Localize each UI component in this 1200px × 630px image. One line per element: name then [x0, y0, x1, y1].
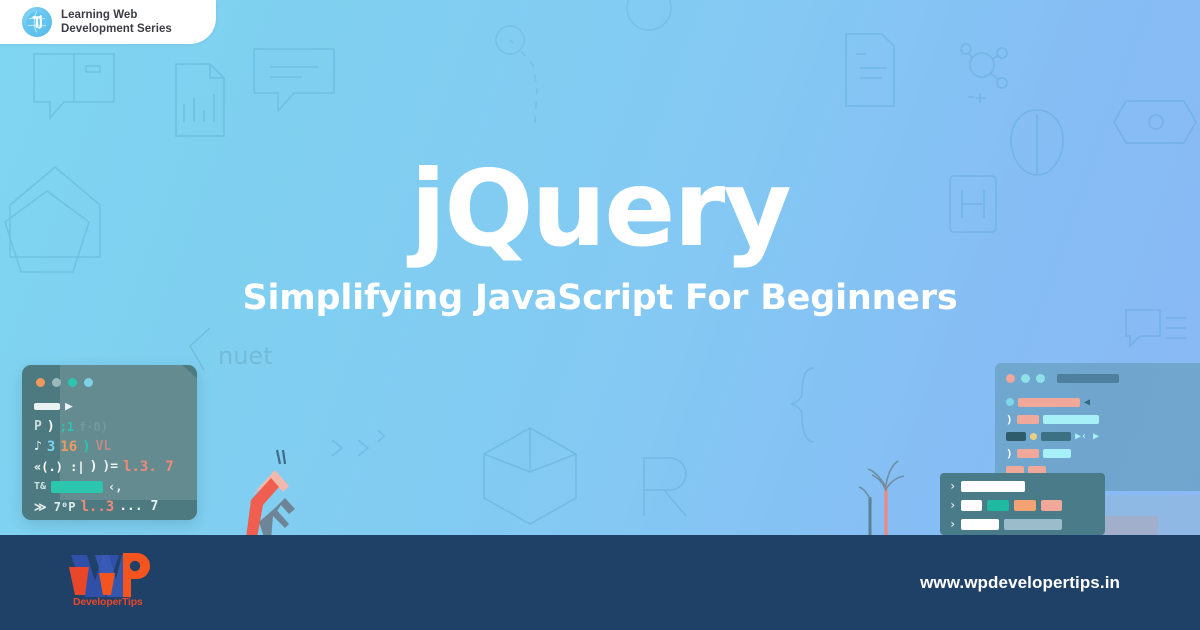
- prompt-chevron-icon: ›: [949, 480, 956, 492]
- window-title-bar: [1057, 374, 1119, 383]
- wp-developer-tips-logo[interactable]: DeveloperTips: [65, 551, 157, 609]
- code-token-bar: [961, 481, 1025, 492]
- arrow-markers-icon: [310, 400, 400, 490]
- code-glyph: f·0): [79, 420, 108, 434]
- window-traffic-lights: [36, 378, 93, 387]
- code-line: ): [1006, 414, 1190, 424]
- code-glyph: ): [1006, 447, 1013, 460]
- code-token-bar: [51, 481, 103, 493]
- code-glyph: ♪: [34, 439, 42, 454]
- learning-series-badge[interactable]: Learning Web Development Series: [0, 0, 216, 44]
- page-title: jQuery: [0, 155, 1200, 264]
- code-glyph: P: [34, 419, 42, 434]
- window-dot: [1006, 374, 1015, 383]
- code-token-bar: [1006, 432, 1026, 441]
- code-lines-left: ▶P);1f·0)♪316)VL«(.) :|))=l.3. 7T&‹,≫ 7⁰…: [34, 400, 187, 520]
- poster-canvas: nuet Le: [0, 0, 1200, 630]
- cube-3d-icon: [470, 420, 590, 530]
- code-window-right-lower: ›››: [940, 473, 1105, 535]
- code-line: ›: [949, 480, 1105, 492]
- prompt-chevron-icon: ›: [949, 518, 956, 530]
- code-glyph: ): [82, 439, 90, 455]
- code-token-bar: [1043, 449, 1071, 458]
- code-glyph: 16: [60, 439, 77, 455]
- code-line: ▶‹ ▶: [1006, 431, 1190, 441]
- code-glyph: )=: [102, 459, 118, 474]
- code-glyph: l.3. 7: [123, 459, 174, 475]
- code-line: ≫ 7⁰Pl..3... 7: [34, 500, 187, 513]
- bracket-curly-icon: [780, 360, 860, 480]
- svg-text:nuet: nuet: [218, 342, 273, 370]
- learning-series-globe-icon: [22, 7, 52, 37]
- code-line: «(.) :|))=l.3. 7: [34, 460, 187, 473]
- prompt-chevron-icon: ›: [949, 499, 956, 511]
- code-token-bar: [1041, 432, 1071, 441]
- code-token-bar: [987, 500, 1009, 511]
- code-glyph: ▶‹ ▶: [1075, 431, 1099, 442]
- code-token-bar: [1018, 398, 1080, 407]
- code-glyph: VL: [96, 439, 112, 454]
- page-subtitle: Simplifying JavaScript For Beginners: [0, 278, 1200, 318]
- code-line: P);1f·0): [34, 420, 187, 433]
- footer-bar: DeveloperTips www.wpdevelopertips.in: [0, 535, 1200, 630]
- code-glyph: ≫ 7⁰P: [34, 500, 75, 514]
- code-glyph: l..3: [80, 499, 114, 515]
- code-token-bar: [1014, 500, 1036, 511]
- code-lines-right-upper: ◀)▶‹ ▶): [1006, 397, 1190, 482]
- code-editor-window-left: ▶P);1f·0)♪316)VL«(.) :|))=l.3. 7T&‹,≫ 7⁰…: [22, 365, 197, 520]
- code-line: ): [1006, 448, 1190, 458]
- code-glyph: ‹,: [108, 480, 122, 494]
- molecule-network-icon: [950, 35, 1020, 110]
- code-token-bar: [1004, 519, 1062, 530]
- code-line: ◀: [1006, 397, 1190, 407]
- code-line: ›: [949, 518, 1105, 530]
- code-glyph: ;1: [60, 420, 74, 434]
- code-glyph: ▶: [65, 399, 73, 414]
- code-line: T&‹,: [34, 480, 187, 493]
- code-token-bar: [1043, 415, 1099, 424]
- code-token-bar: [1017, 415, 1039, 424]
- growth-arrows: [243, 448, 323, 535]
- badge-line-2: Development Series: [61, 22, 172, 36]
- window-dot: [1030, 433, 1037, 440]
- badge-line-1: Learning Web: [61, 8, 172, 22]
- tag-hexagon-icon: [1110, 95, 1200, 150]
- code-lines-right-lower: ›››: [940, 480, 1105, 530]
- code-glyph: T&: [34, 481, 46, 492]
- code-glyph: ◀: [1084, 397, 1090, 408]
- window-dot: [52, 378, 61, 387]
- magnifier-path-icon: [488, 18, 558, 128]
- hero-banner: nuet Le: [0, 0, 1200, 535]
- code-line: ♪316)VL: [34, 440, 187, 453]
- letter-r-icon: [620, 440, 730, 530]
- code-glyph: ): [47, 419, 55, 434]
- document-chart-icon: [170, 60, 230, 140]
- code-token-bar: [1041, 500, 1062, 511]
- circle-arc-icon: [614, 0, 684, 50]
- window-dot: [1021, 374, 1030, 383]
- code-window-right-upper: ◀)▶‹ ▶): [995, 363, 1200, 491]
- code-token-bar: [961, 500, 982, 511]
- code-token-bar: [1017, 449, 1039, 458]
- code-glyph: ): [1006, 413, 1013, 426]
- wp-logo-tagline: DeveloperTips: [73, 596, 143, 608]
- code-glyph: 3: [47, 439, 55, 455]
- headline-block: jQuery Simplifying JavaScript For Beginn…: [0, 155, 1200, 318]
- code-glyph: «(.) :|: [34, 460, 85, 474]
- badge-label: Learning Web Development Series: [61, 8, 172, 36]
- plant-sprout-decoration: [858, 455, 918, 535]
- code-line: ›: [949, 499, 1105, 511]
- code-glyph: ... 7: [119, 499, 158, 514]
- comment-bubble-icon: [250, 45, 340, 120]
- document-text-icon: [840, 30, 900, 110]
- speech-bubble-icon: [30, 50, 140, 140]
- window-dot: [1036, 374, 1045, 383]
- window-traffic-lights-right: [1006, 374, 1119, 383]
- window-dot: [68, 378, 77, 387]
- window-dot: [84, 378, 93, 387]
- website-url[interactable]: www.wpdevelopertips.in: [920, 573, 1120, 593]
- code-line: ▶: [34, 400, 187, 413]
- window-dot: [36, 378, 45, 387]
- code-token-bar: [34, 403, 60, 410]
- window-dot: [1006, 398, 1014, 406]
- code-token-bar: [961, 519, 999, 530]
- code-glyph: ): [90, 459, 98, 474]
